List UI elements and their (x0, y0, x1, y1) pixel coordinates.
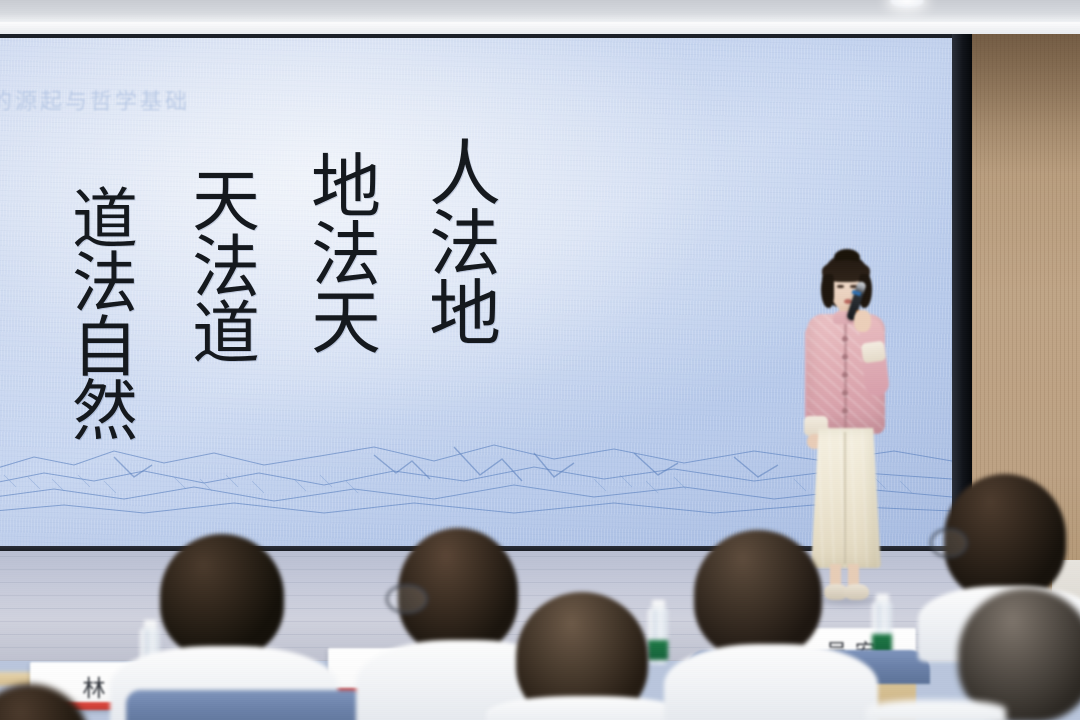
audience-shoulder (866, 700, 1006, 720)
jacket-button (842, 354, 848, 360)
jacket-button (842, 408, 848, 414)
audience-head (160, 534, 284, 658)
skirt-fold (844, 432, 846, 564)
presenter-skirt (811, 428, 881, 568)
eyeglasses-icon (930, 528, 968, 558)
nameplate-text: 林 (75, 669, 114, 703)
conference-hall-scene: 的源起与哲学基础 人法地 地法天 天法道 道法自然 (0, 0, 1080, 720)
eyeglasses-icon (386, 584, 428, 614)
ceiling-lip (0, 22, 1080, 34)
audience-shirt (486, 696, 686, 720)
jacket-button (842, 390, 848, 396)
bottle-label (648, 640, 668, 660)
audience-head (694, 530, 822, 658)
presenter-cuff-right (861, 340, 887, 363)
presenter-hand-right (854, 310, 871, 332)
presenter-hair-left (821, 274, 834, 308)
jacket-button (842, 372, 848, 378)
chair-backrest (126, 690, 366, 720)
audience-shirt (664, 644, 878, 720)
presenter-shoe-right (844, 584, 869, 600)
presenter-eye-left (837, 285, 844, 288)
jacket-button (842, 336, 848, 342)
